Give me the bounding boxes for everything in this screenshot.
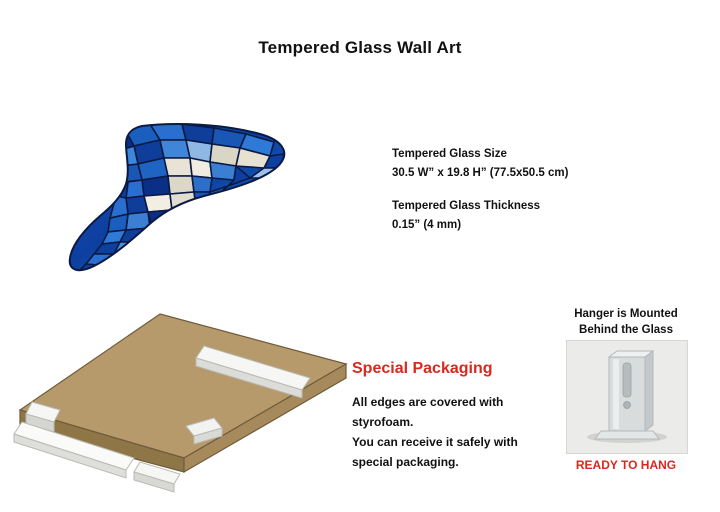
packaging-line-4: special packaging.	[352, 452, 572, 472]
spec-size-label: Tempered Glass Size	[392, 145, 568, 164]
packaging-description: All edges are covered with styrofoam. Yo…	[352, 392, 572, 472]
spec-size-value: 30.5 W” x 19.8 H” (77.5x50.5 cm)	[392, 164, 568, 183]
packaging-svg	[8, 306, 358, 496]
ready-to-hang-label: READY TO HANG	[556, 458, 696, 472]
hanger-title-line-2: Behind the Glass	[556, 322, 696, 338]
page-title: Tempered Glass Wall Art	[0, 38, 720, 58]
packaging-illustration	[8, 306, 358, 496]
poster-page: Tempered Glass Wall Art	[0, 0, 720, 512]
packaging-heading: Special Packaging	[352, 360, 493, 378]
hanger-photo	[566, 340, 688, 454]
packaging-line-2: styrofoam.	[352, 412, 572, 432]
hanger-title: Hanger is Mounted Behind the Glass	[556, 306, 696, 338]
spec-thickness-label: Tempered Glass Thickness	[392, 197, 568, 216]
hanger-title-line-1: Hanger is Mounted	[556, 306, 696, 322]
spec-size: Tempered Glass Size 30.5 W” x 19.8 H” (7…	[392, 145, 568, 183]
glass-artwork-image	[64, 122, 292, 282]
spec-thickness-value: 0.15” (4 mm)	[392, 216, 568, 235]
spec-thickness: Tempered Glass Thickness 0.15” (4 mm)	[392, 197, 568, 235]
packaging-line-3: You can receive it safely with	[352, 432, 572, 452]
mosaic-tiles	[64, 122, 292, 282]
specifications-block: Tempered Glass Size 30.5 W” x 19.8 H” (7…	[392, 145, 568, 249]
hanger-bracket-svg	[567, 341, 687, 453]
glass-artwork-svg	[64, 122, 292, 282]
packaging-line-1: All edges are covered with	[352, 392, 572, 412]
